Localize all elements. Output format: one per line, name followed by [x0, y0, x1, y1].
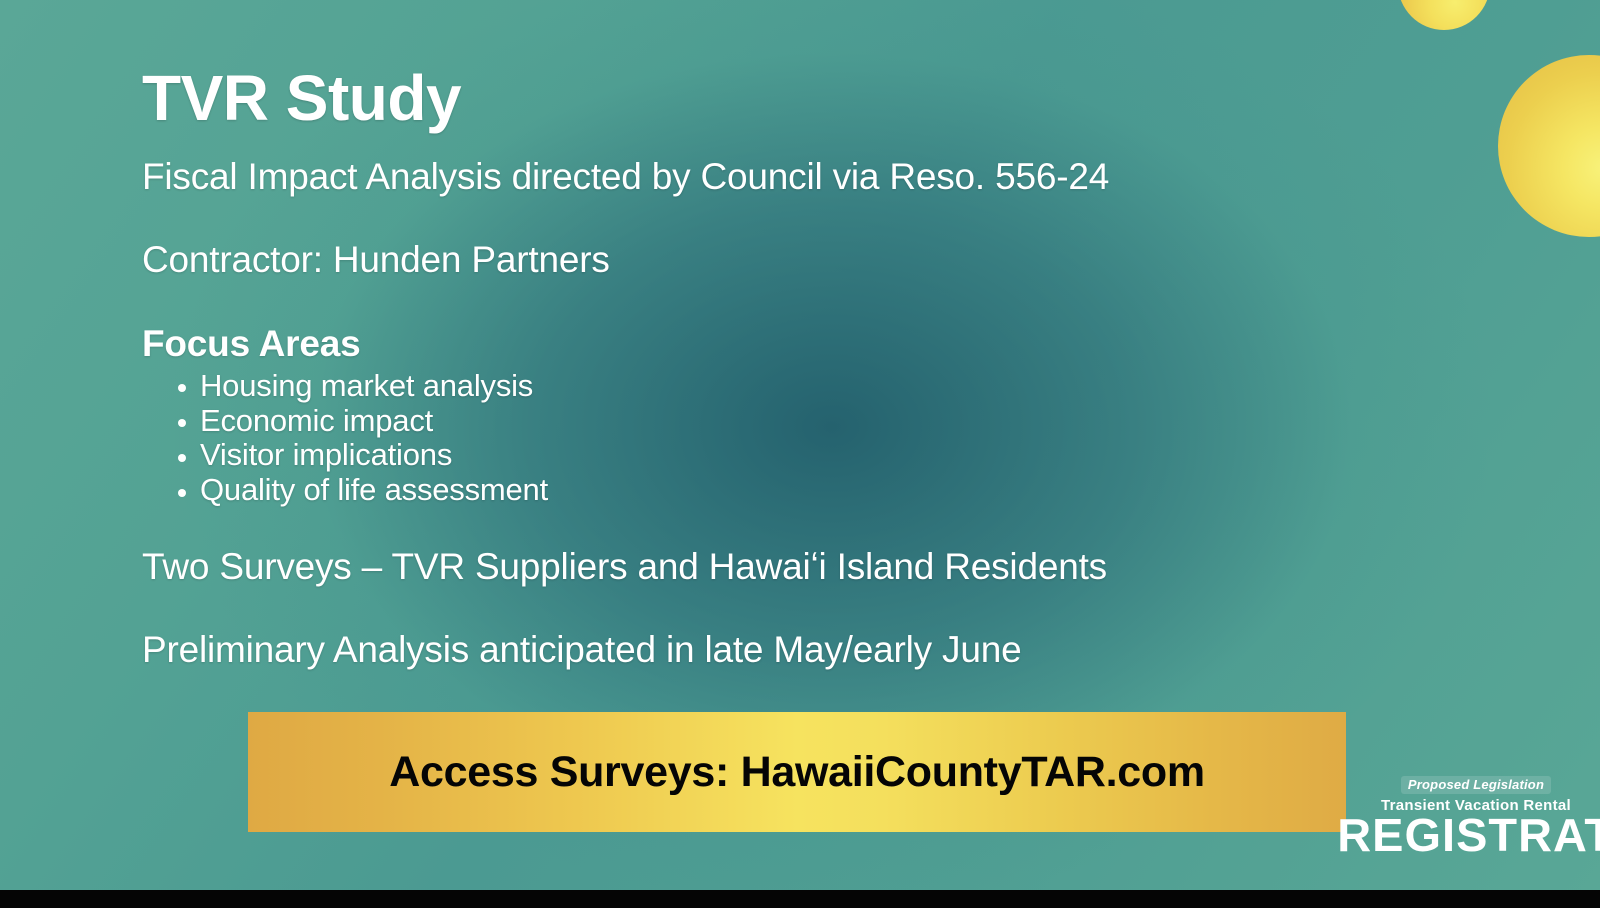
access-surveys-label: Access Surveys: HawaiiCountyTAR.com: [389, 748, 1205, 797]
list-item-label: Economic impact: [200, 403, 433, 438]
bullet-icon: [178, 489, 186, 497]
fiscal-impact-line: Fiscal Impact Analysis directed by Counc…: [142, 156, 1342, 197]
list-item: Housing market analysis: [178, 369, 1342, 404]
yellow-circle-large-icon: [1498, 55, 1600, 237]
list-item-label: Housing market analysis: [200, 368, 533, 403]
contractor-line: Contractor: Hunden Partners: [142, 239, 1342, 280]
slide-content: TVR Study Fiscal Impact Analysis directe…: [142, 66, 1342, 671]
list-item-label: Quality of life assessment: [200, 472, 548, 507]
list-item: Visitor implications: [178, 438, 1342, 473]
bullet-icon: [178, 454, 186, 462]
preliminary-analysis-line: Preliminary Analysis anticipated in late…: [142, 629, 1342, 670]
letterbox-bar: [0, 890, 1600, 908]
list-item: Economic impact: [178, 404, 1342, 439]
bullet-icon: [178, 384, 186, 392]
presentation-slide: TVR Study Fiscal Impact Analysis directe…: [0, 0, 1600, 890]
registration-logo: Proposed Legislation Transient Vacation …: [1340, 776, 1600, 857]
two-surveys-line: Two Surveys – TVR Suppliers and Hawaiʻi …: [142, 546, 1342, 587]
yellow-circle-small-icon: [1398, 0, 1490, 30]
focus-areas-heading: Focus Areas: [142, 323, 1342, 365]
bullet-icon: [178, 419, 186, 427]
logo-eyebrow-label: Proposed Legislation: [1401, 776, 1551, 794]
list-item: Quality of life assessment: [178, 473, 1342, 508]
focus-areas-list: Housing market analysis Economic impact …: [142, 369, 1342, 508]
access-surveys-banner[interactable]: Access Surveys: HawaiiCountyTAR.com: [248, 712, 1346, 832]
logo-title-label: REGISTRATION: [1337, 813, 1600, 857]
page-title: TVR Study: [142, 66, 1342, 130]
list-item-label: Visitor implications: [200, 437, 452, 472]
